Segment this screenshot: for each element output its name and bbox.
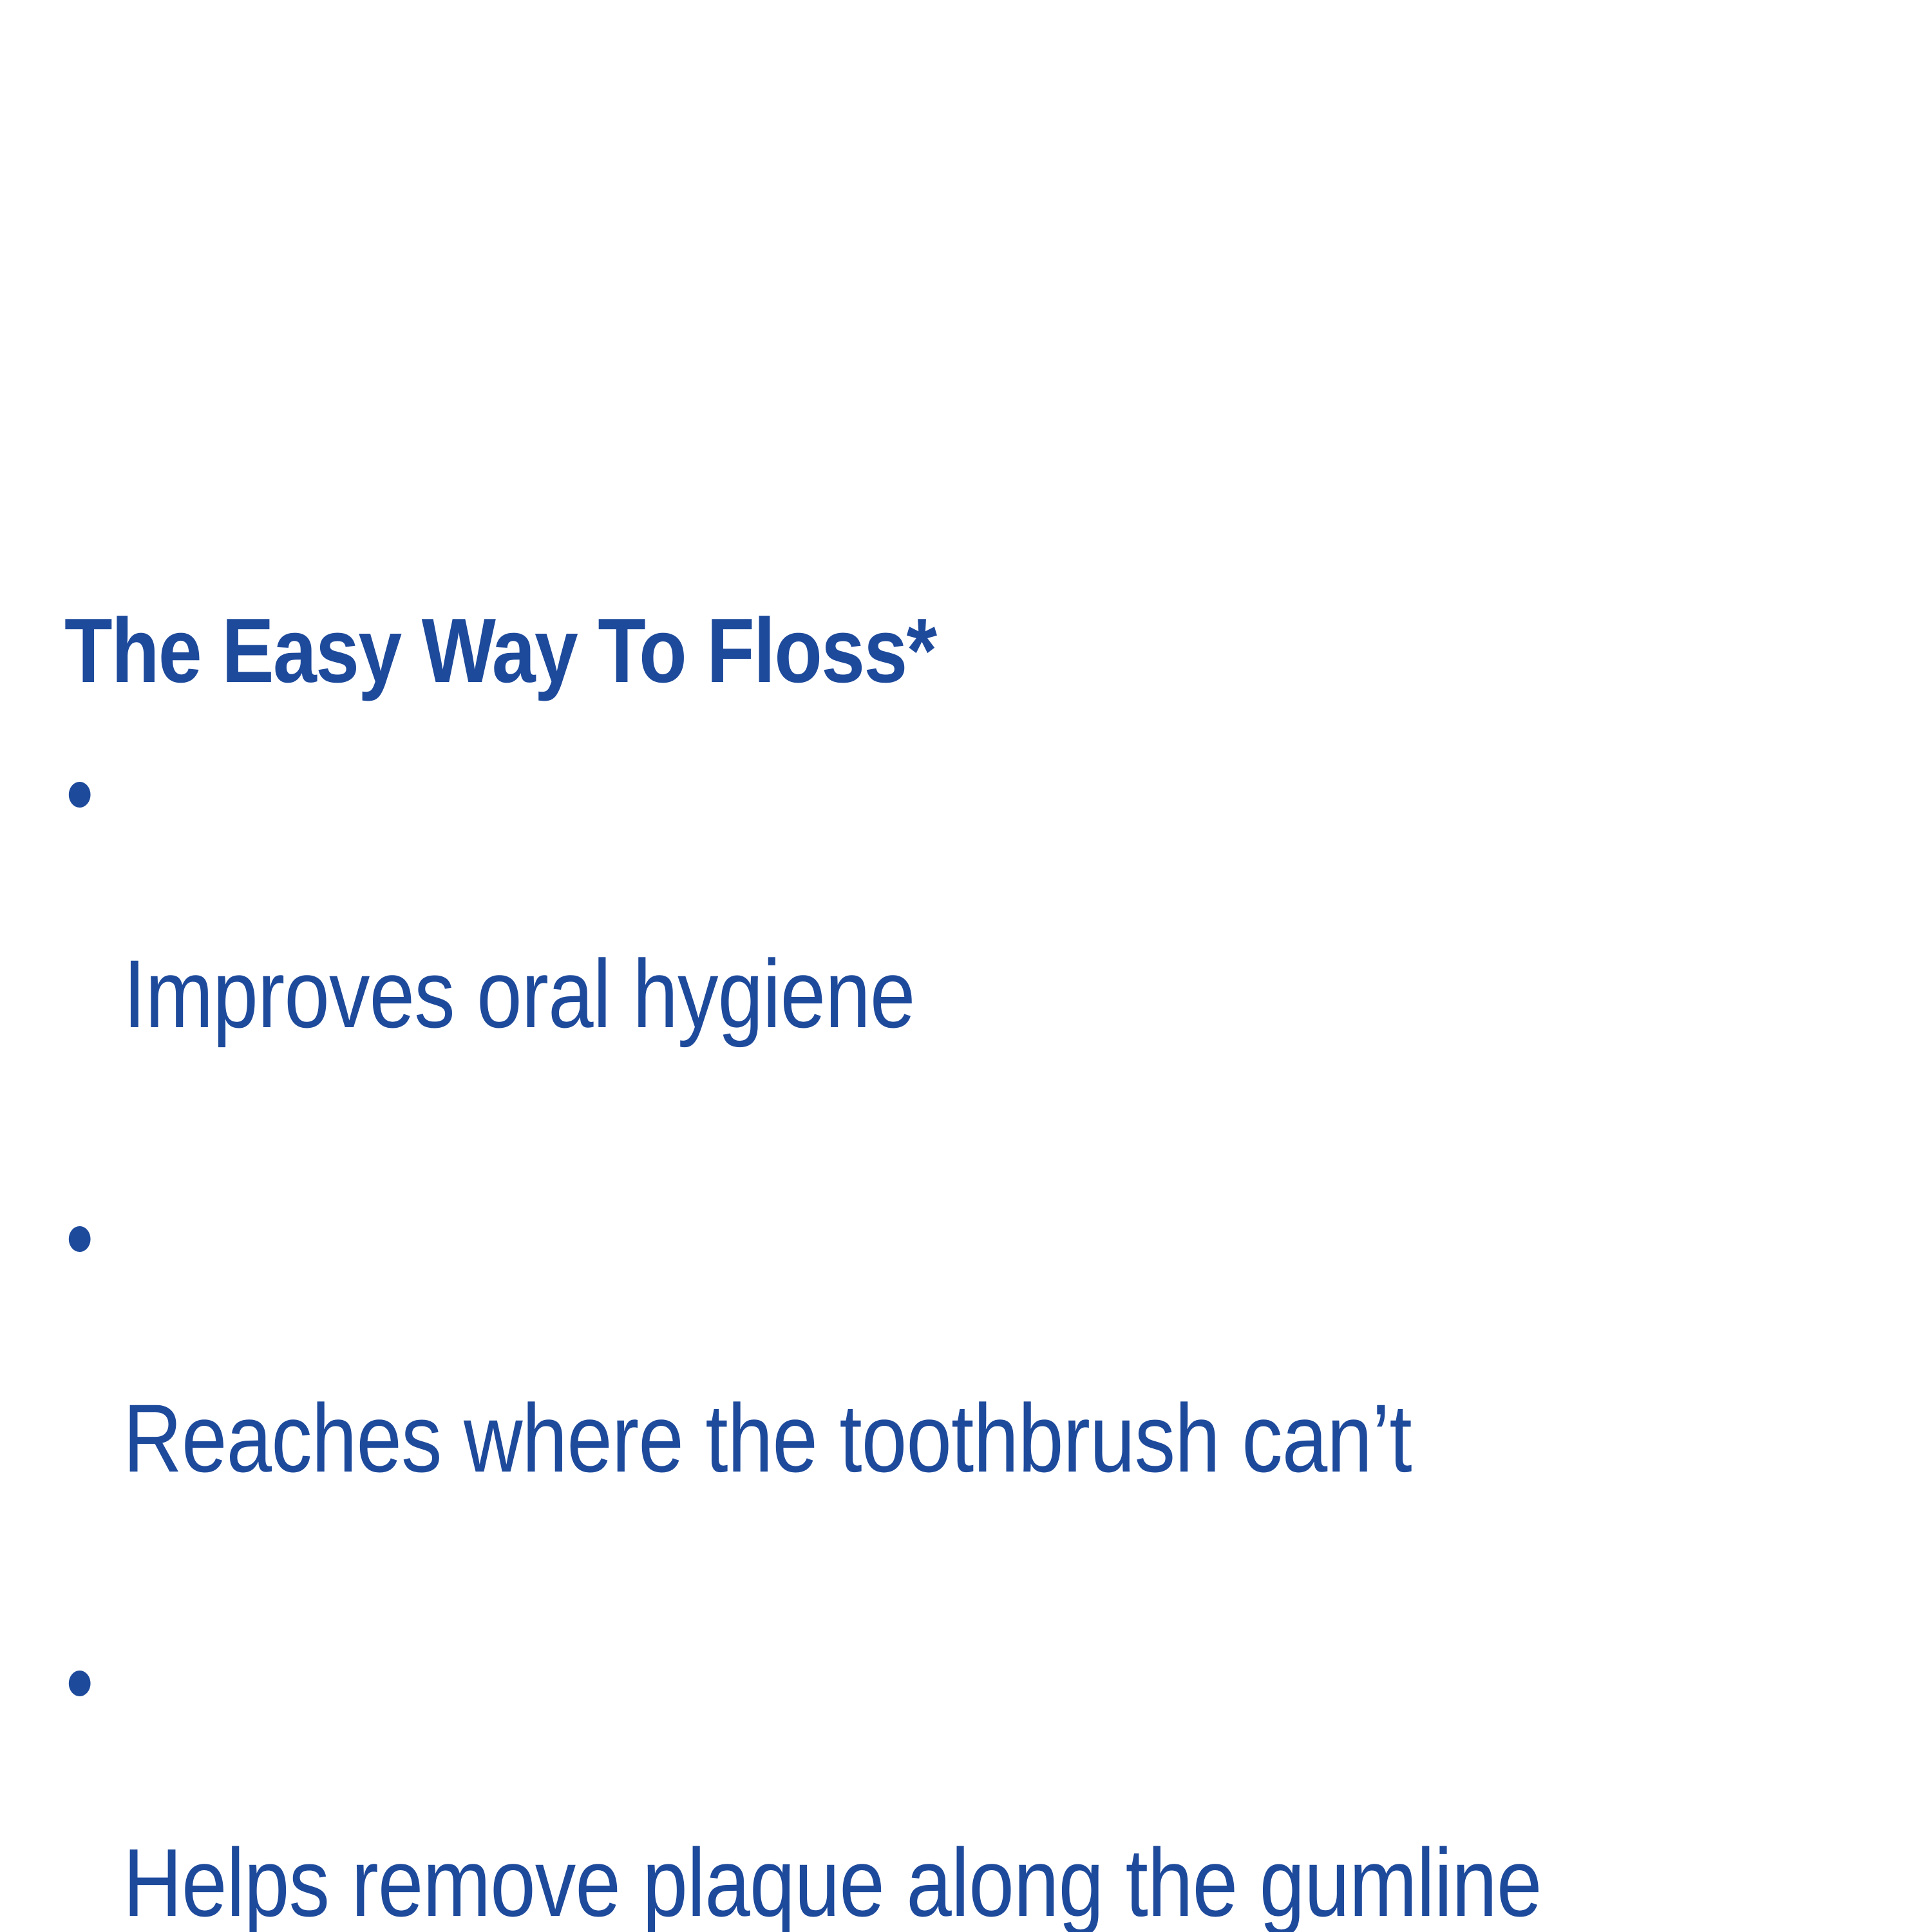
list-item-label: Reaches where the toothbrush can’t (123, 1387, 1620, 1490)
list-item: Reaches where the toothbrush can’t (64, 1180, 1621, 1593)
benefits-list: Improves oral hygiene Reaches where the … (64, 735, 1906, 1932)
bullet-dot-icon (69, 782, 91, 808)
marketing-claims-panel: The Easy Way To Floss* Improves oral hyg… (0, 0, 1932, 1932)
claims-content-block: The Easy Way To Floss* Improves oral hyg… (64, 605, 1906, 1932)
page-title: The Easy Way To Floss* (64, 605, 1649, 697)
bullet-dot-icon (69, 1226, 91, 1252)
list-item: Improves oral hygiene (64, 735, 1621, 1149)
bullet-dot-icon (69, 1671, 91, 1696)
list-item: Helps remove plaque along the gumline an… (64, 1624, 1621, 1932)
list-item-label: Improves oral hygiene (123, 942, 1620, 1046)
list-item-label: Helps remove plaque along the gumline an… (123, 1831, 1620, 1932)
